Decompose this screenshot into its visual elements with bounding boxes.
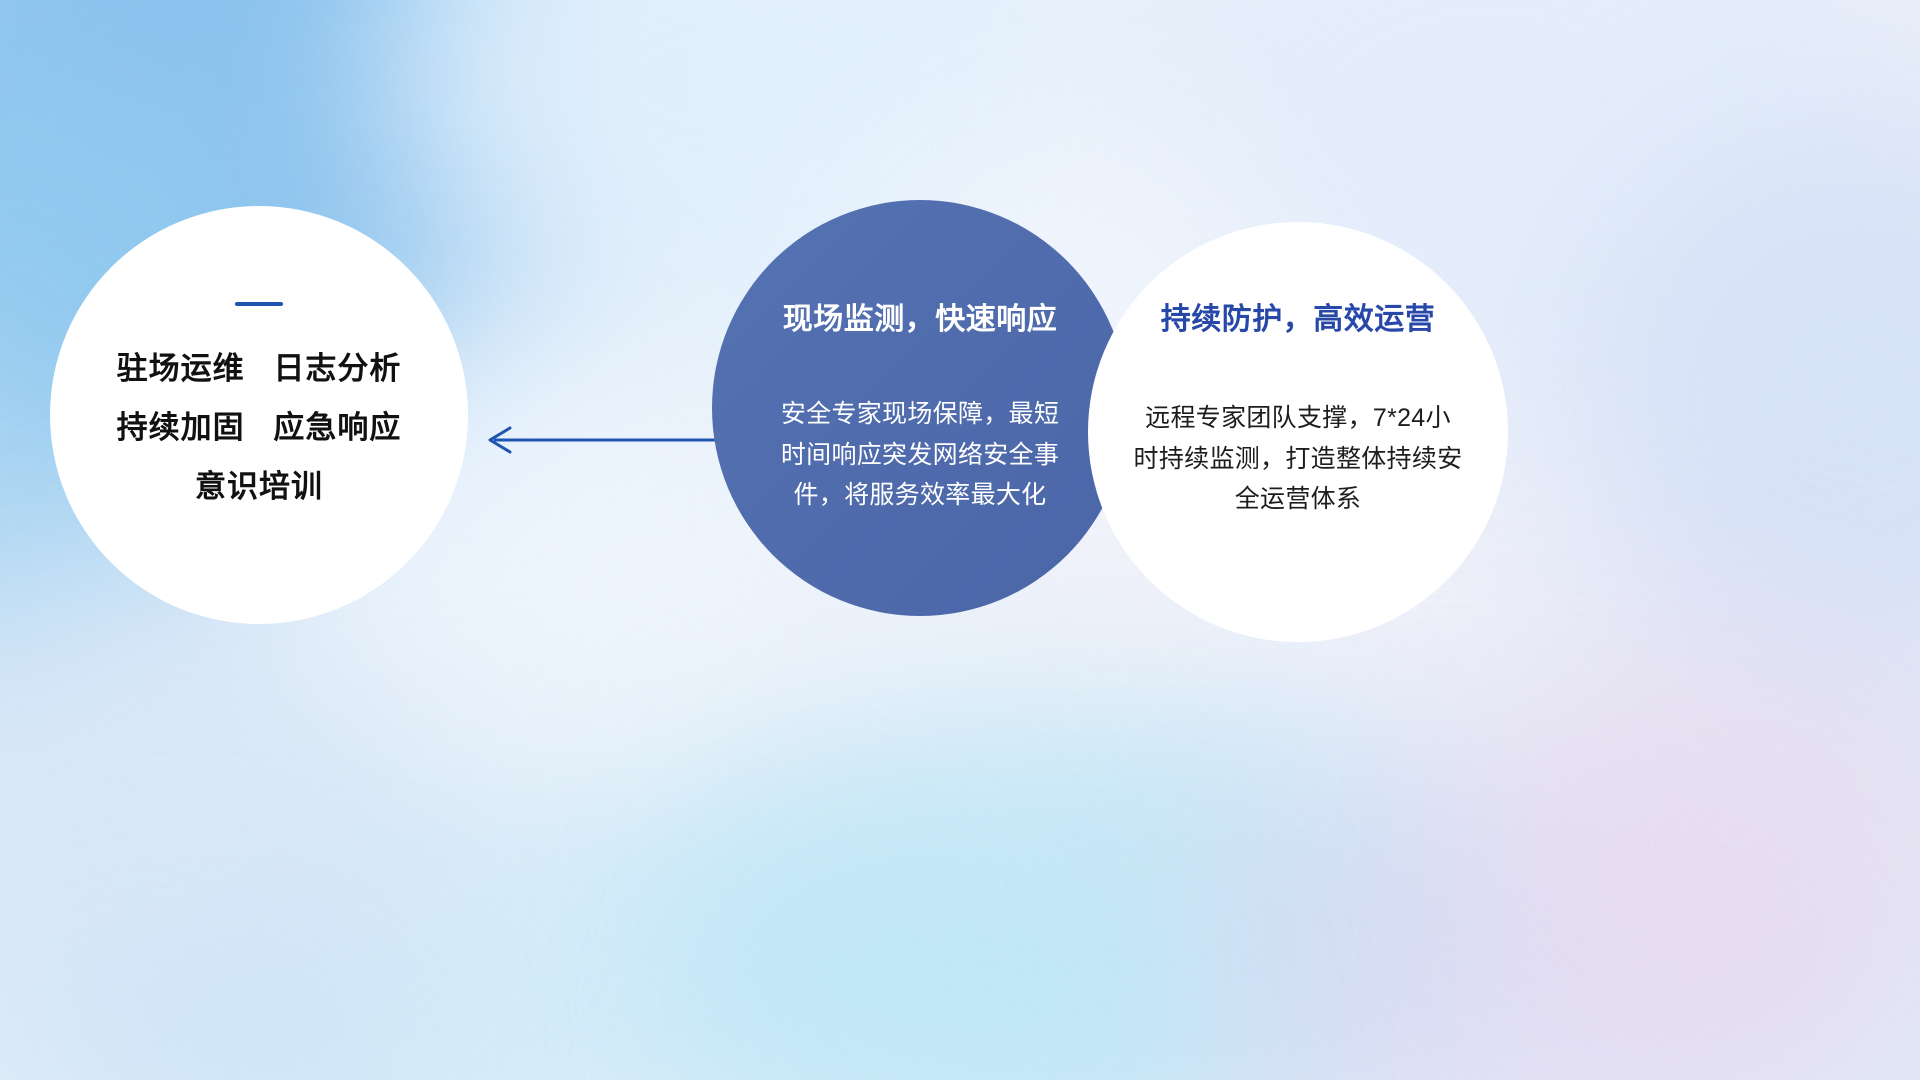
right-circle-content: 持续防护，高效运营 远程专家团队支撑，7*24小时持续监测，打造整体持续安全运营…: [1088, 294, 1508, 520]
right-circle-title: 持续防护，高效运营: [1161, 294, 1436, 338]
continuous-protection-circle: 持续防护，高效运营 远程专家团队支撑，7*24小时持续监测，打造整体持续安全运营…: [1088, 222, 1508, 642]
left-circle-line: 持续加固 应急响应: [117, 412, 402, 443]
left-capability-circle: 驻场运维 日志分析 持续加固 应急响应 意识培训: [50, 206, 468, 624]
right-circle-body: 远程专家团队支撑，7*24小时持续监测，打造整体持续安全运营体系: [1133, 398, 1463, 520]
left-circle-line: 意识培训: [195, 471, 323, 502]
left-circle-line: 驻场运维 日志分析: [117, 353, 402, 384]
left-arrow-icon: [480, 418, 720, 462]
onsite-monitoring-circle: 现场监测，快速响应 安全专家现场保障，最短时间响应突发网络安全事件，将服务效率最…: [712, 200, 1128, 616]
middle-circle-title: 现场监测，快速响应: [783, 294, 1058, 338]
middle-circle-content: 现场监测，快速响应 安全专家现场保障，最短时间响应突发网络安全事件，将服务效率最…: [712, 294, 1128, 516]
left-circle-content: 驻场运维 日志分析 持续加固 应急响应 意识培训: [50, 302, 468, 502]
divider-dash-icon: [235, 302, 283, 306]
middle-circle-body: 安全专家现场保障，最短时间响应突发网络安全事件，将服务效率最大化: [780, 394, 1060, 516]
